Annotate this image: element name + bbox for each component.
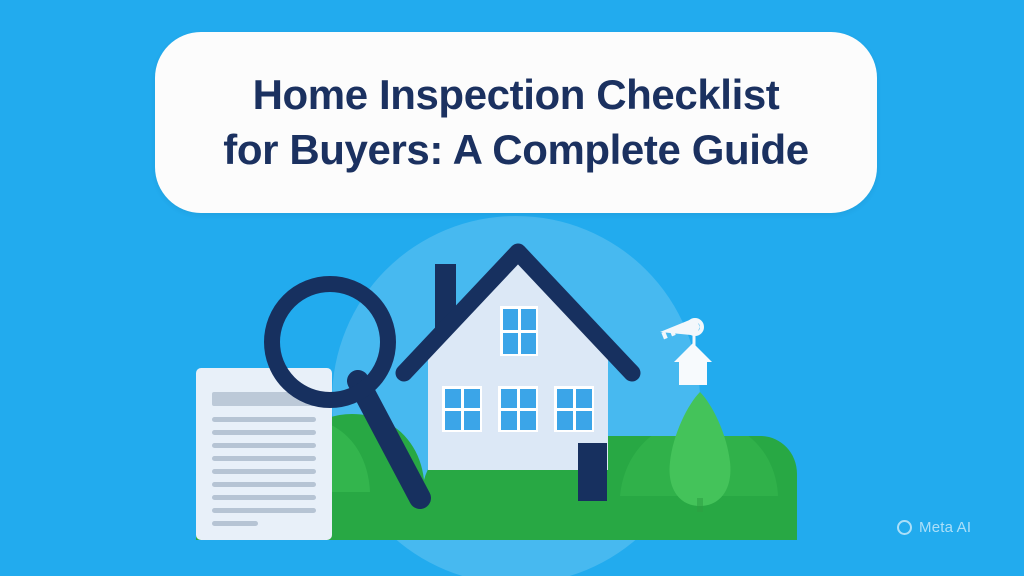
house-window-left [442, 386, 482, 432]
house-door [578, 443, 607, 501]
meta-ai-watermark: Meta AI [897, 519, 971, 536]
house-window-right [554, 386, 594, 432]
page-title-line-1: Home Inspection Checklist [253, 68, 780, 123]
document-text-lines [212, 417, 316, 526]
house-window-attic [500, 306, 538, 356]
meta-ai-label: Meta AI [919, 519, 971, 536]
title-card: Home Inspection Checklist for Buyers: A … [155, 32, 877, 213]
page-title-line-2: for Buyers: A Complete Guide [223, 123, 808, 178]
meta-circle-icon [897, 520, 912, 535]
house-window-center [498, 386, 538, 432]
image-canvas: Home Inspection Checklist for Buyers: A … [0, 0, 1024, 576]
